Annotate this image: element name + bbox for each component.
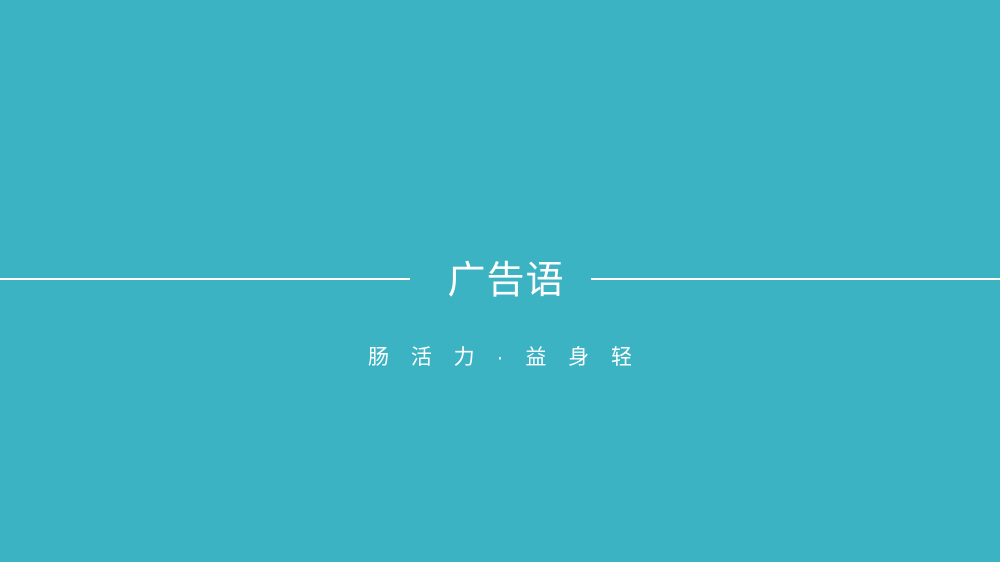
page-title: 广告语 <box>448 262 565 300</box>
slogan-text: 肠 活 力 · 益 身 轻 <box>360 343 640 373</box>
divider-line-right <box>591 278 1000 280</box>
advertising-slogan-slide: 广告语 肠 活 力 · 益 身 轻 <box>0 0 1000 562</box>
title-band: 广告语 <box>0 0 1000 562</box>
subtitle-container: 肠 活 力 · 益 身 轻 <box>0 322 1000 394</box>
divider-line-left <box>0 278 410 280</box>
